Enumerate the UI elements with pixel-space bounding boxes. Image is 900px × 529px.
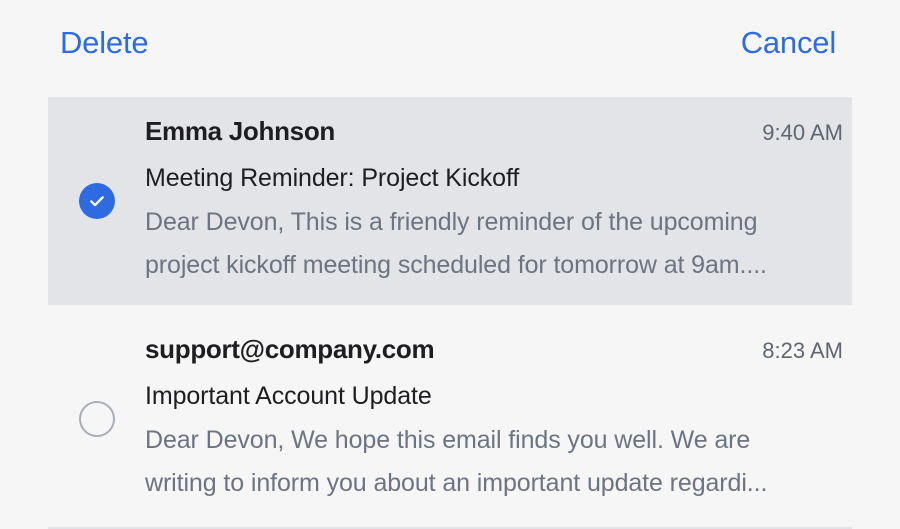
table-row[interactable]: support@company.com 8:23 AM Important Ac… xyxy=(48,317,852,527)
check-circle-filled-icon[interactable] xyxy=(79,183,115,219)
email-subject: Important Account Update xyxy=(145,379,846,413)
sender-name: Emma Johnson xyxy=(145,114,335,148)
email-list: Emma Johnson 9:40 AM Meeting Reminder: P… xyxy=(0,84,900,529)
timestamp: 9:40 AM xyxy=(762,116,846,150)
row-gap xyxy=(0,305,900,317)
row-select-cell[interactable] xyxy=(48,401,145,437)
table-row[interactable]: Emma Johnson 9:40 AM Meeting Reminder: P… xyxy=(48,97,852,305)
list-top-spacer xyxy=(0,84,900,97)
email-content: Emma Johnson 9:40 AM Meeting Reminder: P… xyxy=(145,114,852,287)
selection-toolbar: Delete Cancel xyxy=(0,0,900,84)
timestamp: 8:23 AM xyxy=(762,334,846,368)
delete-button[interactable]: Delete xyxy=(60,27,148,58)
email-content: support@company.com 8:23 AM Important Ac… xyxy=(145,332,852,505)
email-preview: Dear Devon, We hope this email finds you… xyxy=(145,419,805,505)
email-header-line: Emma Johnson 9:40 AM xyxy=(145,114,846,150)
cancel-button[interactable]: Cancel xyxy=(741,27,836,58)
circle-outline-icon[interactable] xyxy=(79,401,115,437)
email-preview: Dear Devon, This is a friendly reminder … xyxy=(145,201,805,287)
email-selection-screen: Delete Cancel Emma Johnson 9:40 AM Meeti… xyxy=(0,0,900,526)
sender-name: support@company.com xyxy=(145,332,434,366)
row-select-cell[interactable] xyxy=(48,183,145,219)
email-header-line: support@company.com 8:23 AM xyxy=(145,332,846,368)
email-subject: Meeting Reminder: Project Kickoff xyxy=(145,161,846,195)
